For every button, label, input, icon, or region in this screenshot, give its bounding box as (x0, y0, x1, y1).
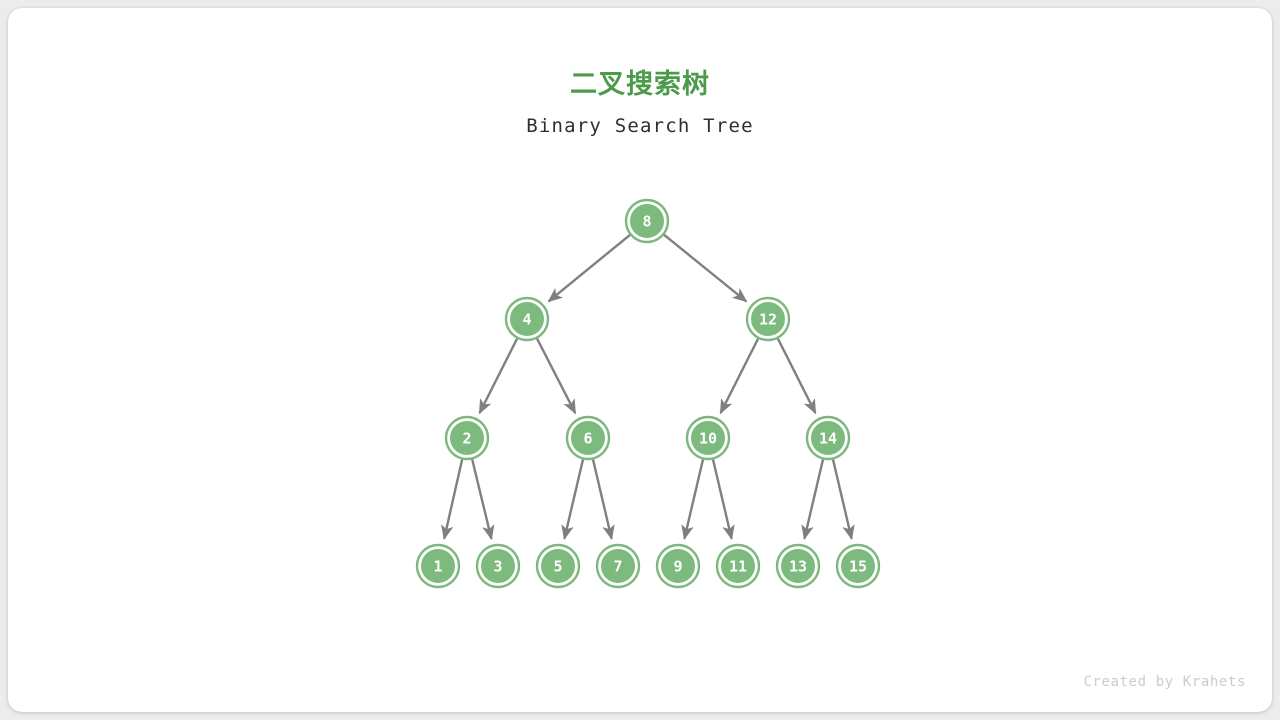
node-label: 12 (759, 311, 777, 329)
tree-edge-8-to-12 (664, 235, 746, 302)
tree-node-4[interactable]: 4 (506, 298, 548, 340)
tree-node-13[interactable]: 13 (777, 545, 819, 587)
tree-nodes: 841226101413579111315 (417, 200, 879, 587)
tree-edge-14-to-15 (833, 459, 852, 538)
node-label: 10 (699, 430, 717, 448)
tree-node-3[interactable]: 3 (477, 545, 519, 587)
tree-edge-2-to-1 (444, 459, 462, 538)
credit-text: Created by Krahets (1083, 674, 1246, 690)
tree-node-1[interactable]: 1 (417, 545, 459, 587)
tree-edges (444, 235, 851, 539)
tree-edge-2-to-3 (472, 459, 491, 538)
tree-edge-10-to-11 (713, 459, 732, 538)
node-label: 1 (433, 558, 442, 576)
diagram-card: 二叉搜索树 Binary Search Tree 841226101413579… (8, 8, 1272, 712)
node-label: 3 (493, 558, 502, 576)
tree-edge-4-to-6 (537, 339, 575, 414)
node-label: 8 (642, 213, 651, 231)
tree-edge-4-to-2 (480, 339, 517, 413)
tree-node-11[interactable]: 11 (717, 545, 759, 587)
tree-node-5[interactable]: 5 (537, 545, 579, 587)
tree-node-2[interactable]: 2 (446, 417, 488, 459)
tree-node-6[interactable]: 6 (567, 417, 609, 459)
tree-edge-14-to-13 (804, 459, 823, 538)
node-label: 14 (819, 430, 837, 448)
tree-node-15[interactable]: 15 (837, 545, 879, 587)
tree-edge-12-to-10 (721, 339, 758, 413)
tree-node-14[interactable]: 14 (807, 417, 849, 459)
node-label: 11 (729, 558, 747, 576)
tree-node-8[interactable]: 8 (626, 200, 668, 242)
tree-node-9[interactable]: 9 (657, 545, 699, 587)
binary-search-tree-diagram: 841226101413579111315 (8, 8, 1272, 712)
tree-node-10[interactable]: 10 (687, 417, 729, 459)
node-label: 4 (522, 311, 531, 329)
node-label: 2 (462, 430, 471, 448)
node-label: 6 (583, 430, 592, 448)
tree-edge-10-to-9 (684, 459, 703, 538)
tree-edge-8-to-4 (549, 235, 630, 301)
node-label: 7 (613, 558, 622, 576)
node-label: 5 (553, 558, 562, 576)
node-label: 9 (673, 558, 682, 576)
tree-edge-6-to-7 (593, 459, 612, 538)
tree-node-12[interactable]: 12 (747, 298, 789, 340)
tree-edge-6-to-5 (564, 459, 583, 538)
node-label: 15 (849, 558, 867, 576)
node-label: 13 (789, 558, 807, 576)
tree-edge-12-to-14 (778, 339, 815, 413)
tree-node-7[interactable]: 7 (597, 545, 639, 587)
